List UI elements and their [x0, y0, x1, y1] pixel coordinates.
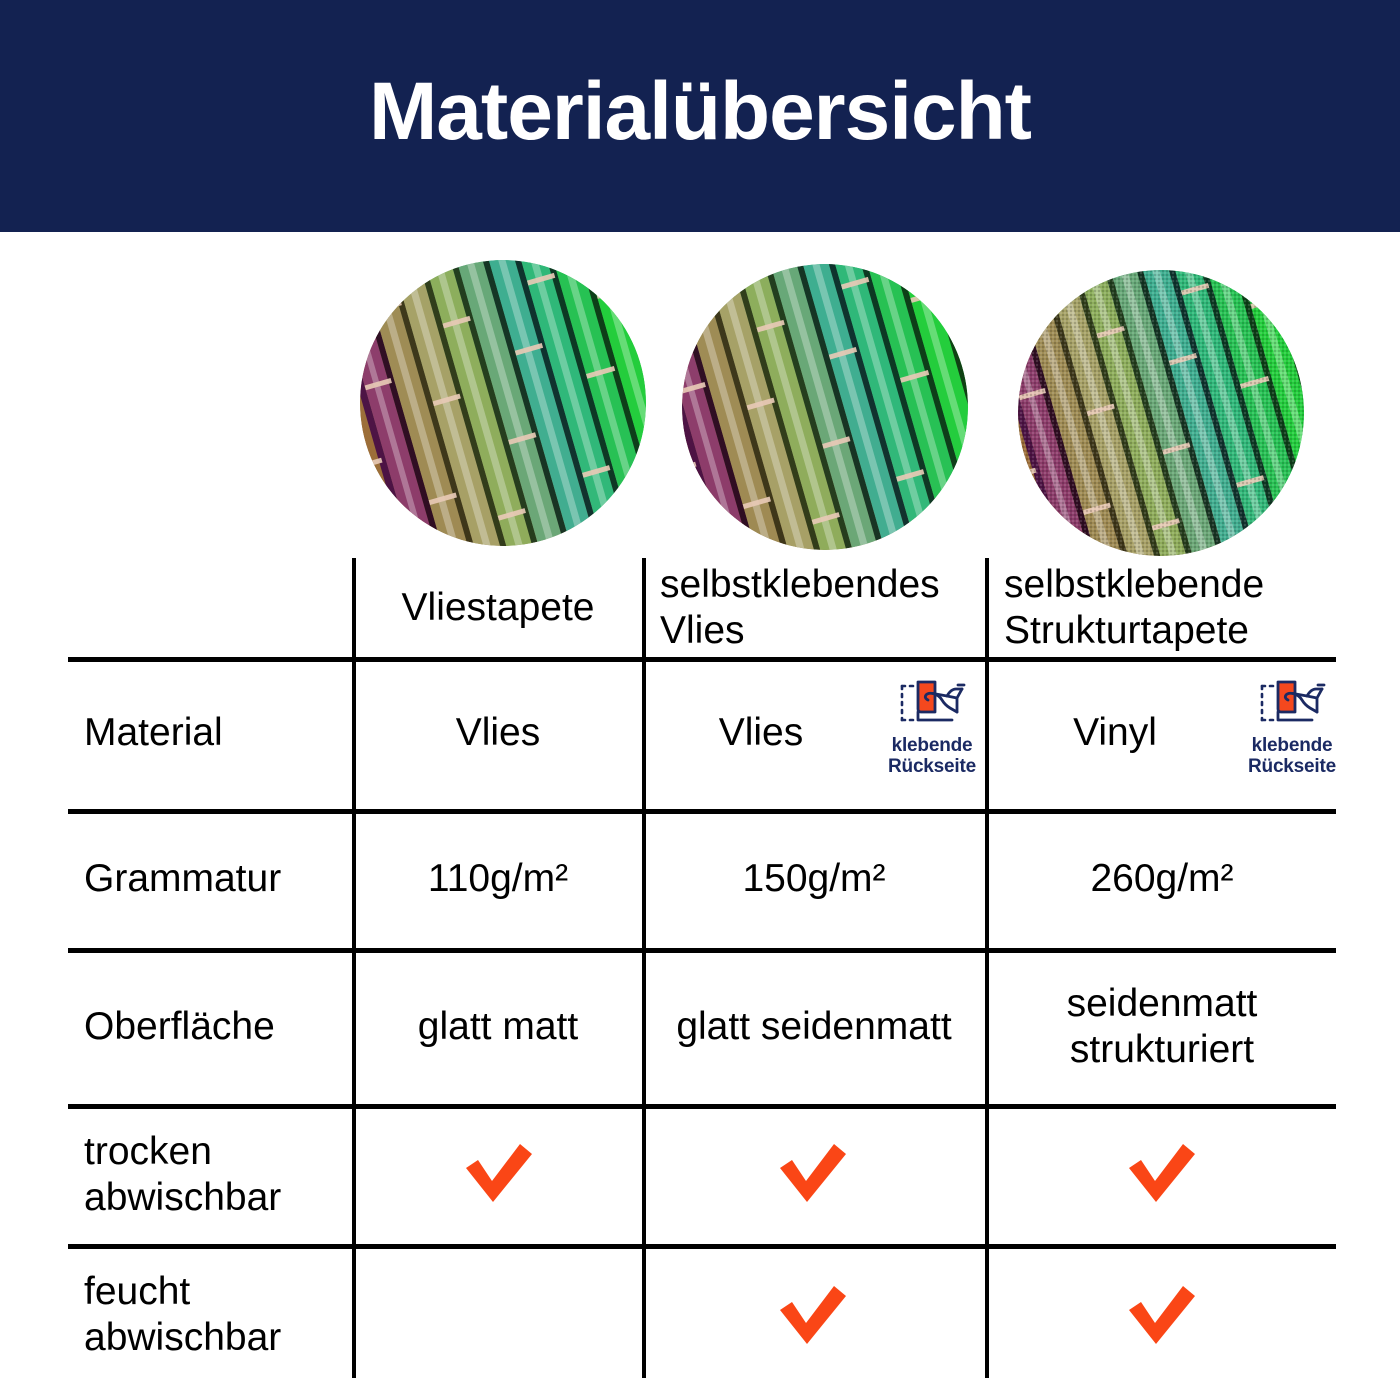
cell-oberflaeche-selbstklebendes-vlies: glatt seidenmatt — [646, 951, 982, 1102]
sticky-backing-badge-col2: klebende Rückseite — [872, 676, 992, 778]
sticky-backing-badge-line2: Rückseite — [1232, 756, 1352, 777]
cell-grammatur-vliestapete: 110g/m² — [356, 812, 640, 946]
check-icon — [462, 1140, 536, 1206]
check-icon — [776, 1140, 850, 1206]
check-icon — [1125, 1140, 1199, 1206]
sticky-backing-badge-line2: Rückseite — [872, 756, 992, 777]
column-header-strukturtapete: selbstklebende Strukturtapete — [1004, 560, 1334, 656]
column-header-selbstklebendes-vlies: selbstklebendes Vlies — [660, 560, 982, 656]
cell-oberflaeche-strukturtapete: seidenmatt strukturiert — [989, 951, 1335, 1102]
row-label-trocken-abwischbar: trocken abwischbar — [84, 1107, 348, 1242]
sticky-backing-badge-line1: klebende — [1232, 735, 1352, 756]
check-icon — [776, 1282, 850, 1348]
column-header-vliestapete: Vliestapete — [356, 560, 640, 656]
cell-oberflaeche-vliestapete: glatt matt — [356, 951, 640, 1102]
cell-material-vliestapete: Vlies — [356, 660, 640, 806]
row-label-grammatur: Grammatur — [84, 812, 348, 946]
row-label-feucht-abwischbar: feucht abwischbar — [84, 1247, 348, 1382]
cell-grammatur-strukturtapete: 260g/m² — [989, 812, 1335, 946]
material-comparison-table: Vliestapete selbstklebendes Vlies selbst… — [0, 0, 1400, 1400]
cell-material-selbstklebendes-vlies: Vlies — [646, 660, 876, 806]
row-label-oberflaeche: Oberfläche — [84, 951, 348, 1102]
peeling-adhesive-backing-icon — [1254, 676, 1330, 734]
peeling-adhesive-backing-icon — [894, 676, 970, 734]
sticky-backing-badge-col3: klebende Rückseite — [1232, 676, 1352, 778]
check-icon — [1125, 1282, 1199, 1348]
cell-material-strukturtapete: Vinyl — [1000, 660, 1230, 806]
row-label-material: Material — [84, 660, 348, 806]
sticky-backing-badge-line1: klebende — [872, 735, 992, 756]
cell-grammatur-selbstklebendes-vlies: 150g/m² — [646, 812, 982, 946]
